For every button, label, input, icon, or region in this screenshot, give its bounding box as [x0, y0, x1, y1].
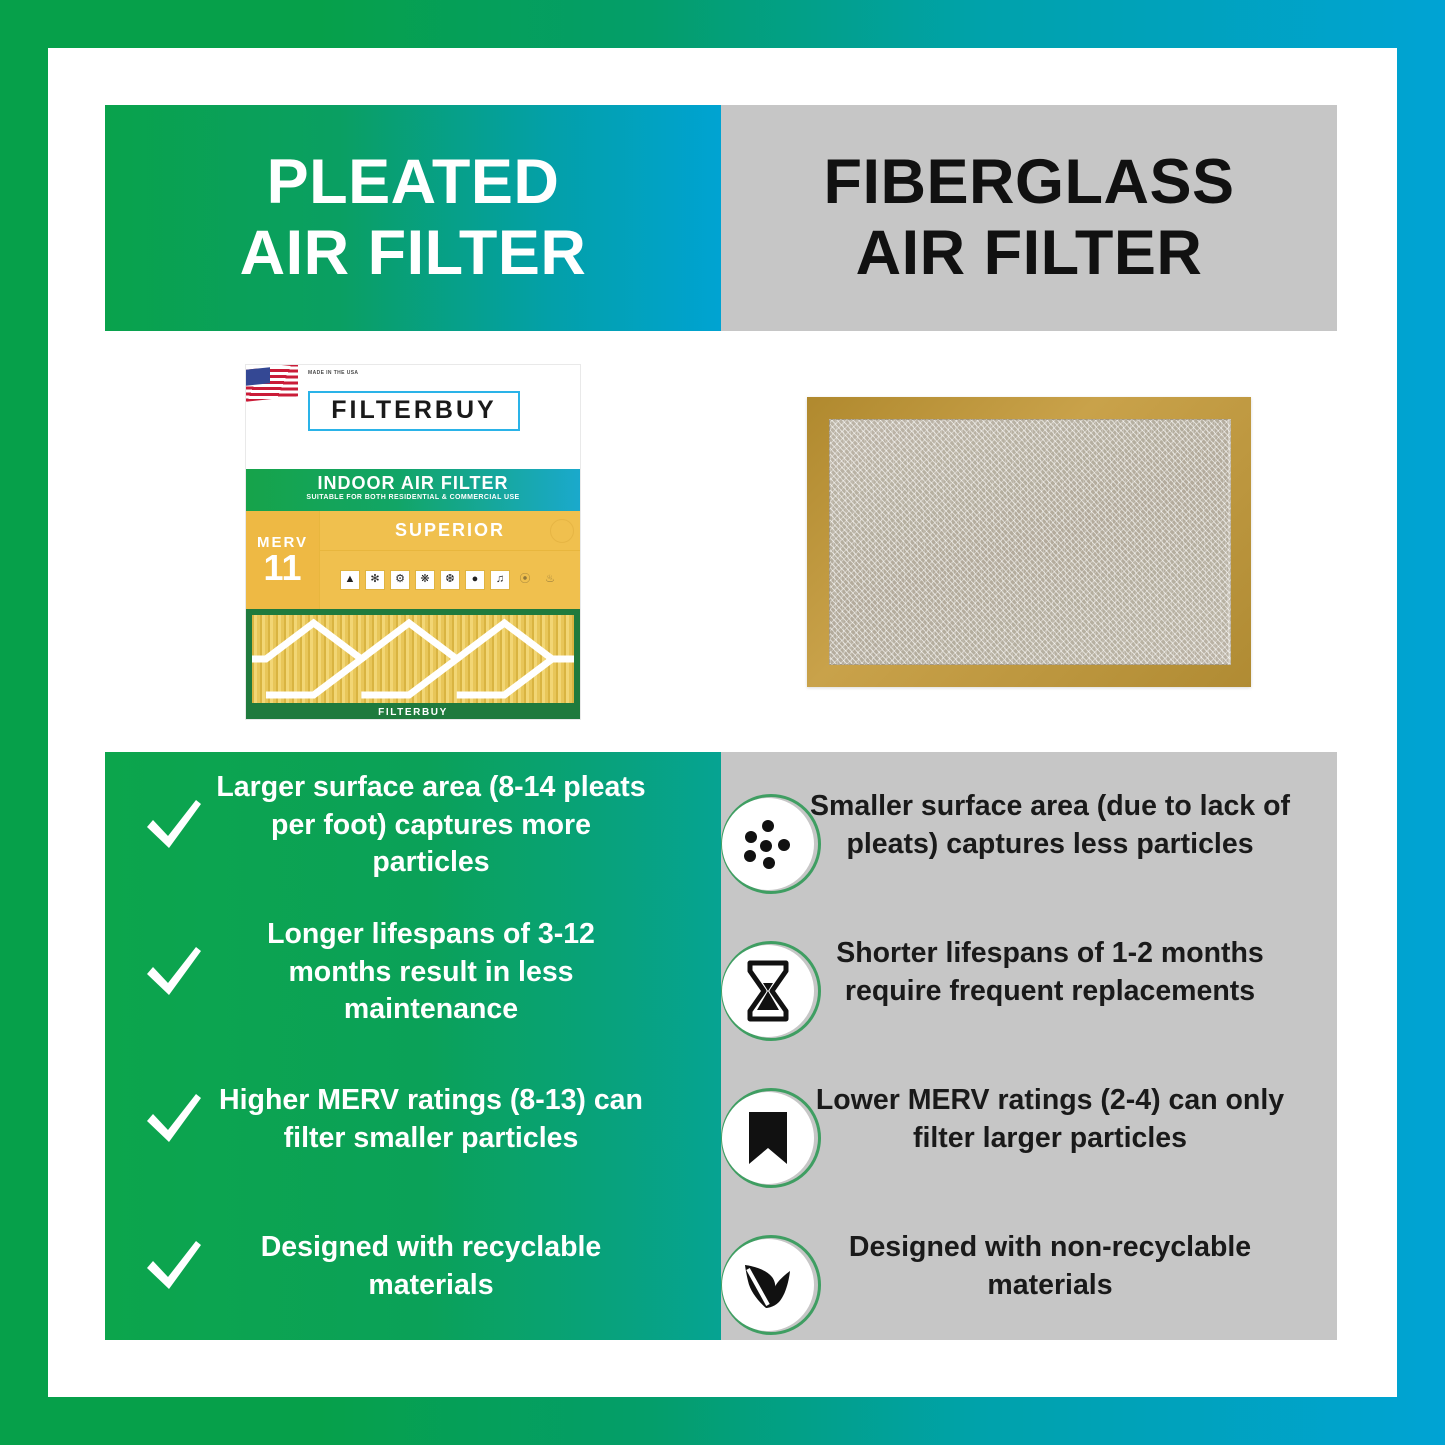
comparison-row: Designed with non-recyclable materials — [721, 1193, 1337, 1340]
checkmark-icon — [135, 1085, 213, 1155]
checkmark-icon — [135, 1232, 213, 1302]
product-images-row: MADE IN THE USA FILTERBUY INDOOR AIR FIL… — [105, 331, 1337, 752]
box-band-title: INDOOR AIR FILTER — [246, 474, 580, 493]
white-card: PLEATED AIR FILTER FIBERGLASS AIR FILTER… — [48, 48, 1397, 1397]
box-top-section: MADE IN THE USA FILTERBUY — [246, 365, 580, 469]
comparison-row: Shorter lifespans of 1-2 months require … — [721, 899, 1337, 1046]
comparison-row: Higher MERV ratings (8-13) can filter sm… — [105, 1046, 721, 1193]
comparison-row: Designed with recyclable materials — [105, 1193, 721, 1340]
diamond-support-grid — [252, 615, 574, 703]
pollen-icon: ❆ — [440, 570, 460, 590]
made-in-usa-label: MADE IN THE USA — [308, 370, 358, 378]
comparison-row-right-text: Smaller surface area (due to lack of ple… — [793, 788, 1307, 863]
merv-badge: MERV 11 — [246, 511, 320, 609]
box-tier-label: SUPERIOR — [320, 511, 580, 551]
comparison-row: Lower MERV ratings (2-4) can only filter… — [721, 1046, 1337, 1193]
header-fiberglass-title: FIBERGLASS AIR FILTER — [823, 147, 1234, 288]
box-merv-section: MERV 11 SUPERIOR ▲ ✻ ⚙ ❋ ❆ ● — [246, 511, 580, 609]
comparison-panel: Larger surface area (8-14 pleats per foo… — [105, 752, 1337, 1340]
filterbuy-logo-frame: FILTERBUY — [308, 391, 520, 431]
comparison-row: Larger surface area (8-14 pleats per foo… — [105, 752, 721, 899]
comparison-row-left-text: Larger surface area (8-14 pleats per foo… — [213, 769, 649, 882]
box-pleated-media: FILTERBUY — [246, 609, 580, 720]
comparison-row-right-text: Lower MERV ratings (2-4) can only filter… — [793, 1082, 1307, 1157]
box-bottom-brand: FILTERBUY — [246, 707, 580, 718]
ul-certification-icon — [550, 519, 574, 543]
filterbuy-wordmark: FILTERBUY — [331, 396, 496, 425]
usa-flag-icon — [246, 364, 298, 401]
particle-icon-ghost: ⦿ — [515, 570, 535, 590]
smoke-icon: ♫ — [490, 570, 510, 590]
mold-icon: ❋ — [415, 570, 435, 590]
dust-icon: ▲ — [340, 570, 360, 590]
fiberglass-mesh-texture — [829, 419, 1231, 665]
comparison-row-left-text: Higher MERV ratings (8-13) can filter sm… — [213, 1082, 649, 1157]
fiberglass-filter-image — [807, 397, 1251, 687]
comparison-row: Longer lifespans of 3-12 months result i… — [105, 899, 721, 1046]
checkmark-icon — [135, 938, 213, 1008]
header-fiberglass: FIBERGLASS AIR FILTER — [721, 105, 1337, 331]
merv-value: 11 — [263, 551, 301, 585]
frame-seam — [1228, 419, 1231, 665]
comparison-row-left-text: Designed with recyclable materials — [213, 1229, 649, 1304]
header-pleated-title: PLEATED AIR FILTER — [240, 147, 587, 288]
header-row: PLEATED AIR FILTER FIBERGLASS AIR FILTER — [105, 105, 1337, 331]
box-band-subtitle: SUITABLE FOR BOTH RESIDENTIAL & COMMERCI… — [246, 494, 580, 501]
allergen-icon: ✻ — [365, 570, 385, 590]
comparison-row-left-text: Longer lifespans of 3-12 months result i… — [213, 916, 649, 1029]
box-indoor-air-filter-band: INDOOR AIR FILTER SUITABLE FOR BOTH RESI… — [246, 469, 580, 511]
box-feature-icons: ▲ ✻ ⚙ ❋ ❆ ● ♫ ⦿ ♨ — [320, 551, 580, 609]
comparison-row-right-text: Shorter lifespans of 1-2 months require … — [793, 935, 1307, 1010]
comparison-row: Smaller surface area (due to lack of ple… — [721, 752, 1337, 899]
pleated-product-cell: MADE IN THE USA FILTERBUY INDOOR AIR FIL… — [105, 331, 721, 752]
comparison-column-fiberglass: Smaller surface area (due to lack of ple… — [721, 752, 1337, 1340]
infographic-canvas: PLEATED AIR FILTER FIBERGLASS AIR FILTER… — [0, 0, 1445, 1445]
header-pleated: PLEATED AIR FILTER — [105, 105, 721, 331]
checkmark-icon — [135, 791, 213, 861]
bacteria-icon: ⚙ — [390, 570, 410, 590]
comparison-column-pleated: Larger surface area (8-14 pleats per foo… — [105, 752, 721, 1340]
comparison-row-right-text: Designed with non-recyclable materials — [793, 1229, 1307, 1304]
pet-dander-icon: ● — [465, 570, 485, 590]
box-tier-section: SUPERIOR ▲ ✻ ⚙ ❋ ❆ ● ♫ ⦿ ♨ — [320, 511, 580, 609]
fiberglass-product-cell — [721, 331, 1337, 752]
filterbuy-box-image: MADE IN THE USA FILTERBUY INDOOR AIR FIL… — [245, 364, 581, 720]
smoke-icon-ghost: ♨ — [540, 570, 560, 590]
diamond-support-svg — [252, 615, 574, 703]
